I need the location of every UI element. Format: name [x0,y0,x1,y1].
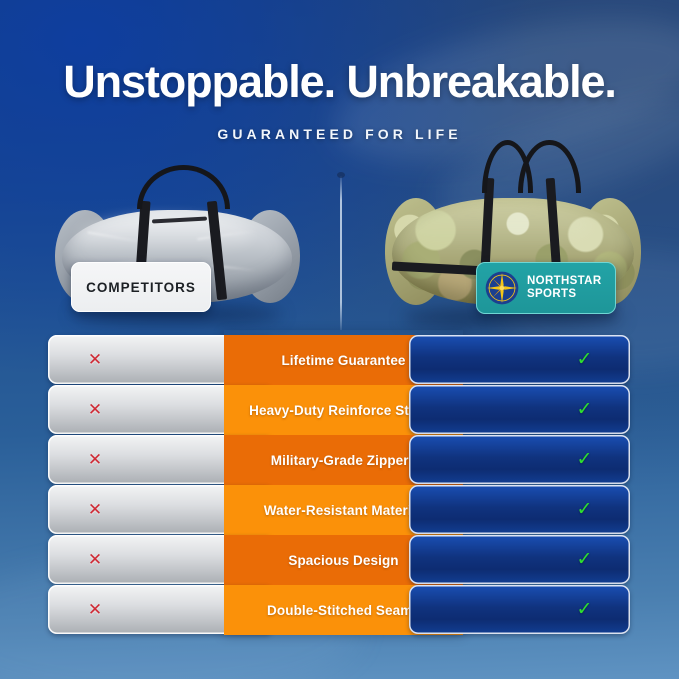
cross-icon: ✕ [88,451,102,468]
table-row: ✕ Double-Stitched Seams ✓ [0,585,679,635]
competitors-badge-label: COMPETITORS [86,280,196,295]
table-row: ✕ Water-Resistant Material ✓ [0,485,679,535]
cross-icon: ✕ [88,401,102,418]
brand-line-2: SPORTS [527,288,576,300]
northstar-cell: ✓ [409,585,630,634]
northstar-cell: ✓ [409,485,630,534]
competitors-badge: COMPETITORS [71,262,211,312]
check-icon: ✓ [577,450,593,469]
check-icon: ✓ [577,350,593,369]
table-row: ✕ Heavy-Duty Reinforce Straps ✓ [0,385,679,435]
northstar-cell: ✓ [409,335,630,384]
check-icon: ✓ [577,600,593,619]
brand-line-1: NORTHSTAR [527,275,602,287]
product-comparison-infographic: Unstoppable. Unbreakable. GUARANTEED FOR… [0,0,679,679]
page-title: Unstoppable. Unbreakable. [0,57,679,107]
table-row: ✕ Spacious Design ✓ [0,535,679,585]
cross-icon: ✕ [88,551,102,568]
check-icon: ✓ [577,550,593,569]
northstar-brand-badge: NORTHSTAR SPORTS [476,262,616,314]
northstar-cell: ✓ [409,385,630,434]
compass-star-logo-icon [485,271,519,305]
bag-handle [518,140,580,193]
column-divider [340,176,342,330]
northstar-badge-label: NORTHSTAR SPORTS [527,275,602,302]
northstar-cell: ✓ [409,435,630,484]
cross-icon: ✕ [88,601,102,618]
cross-icon: ✕ [88,501,102,518]
comparison-table: ✕ Lifetime Guarantee ✓ ✕ Heavy-Duty Rein… [0,330,679,638]
bag-handle [137,165,230,209]
cross-icon: ✕ [88,351,102,368]
table-row: ✕ Military-Grade Zippers ✓ [0,435,679,485]
table-row: ✕ Lifetime Guarantee ✓ [0,335,679,385]
check-icon: ✓ [577,500,593,519]
check-icon: ✓ [577,400,593,419]
page-subtitle: GUARANTEED FOR LIFE [0,126,679,142]
northstar-cell: ✓ [409,535,630,584]
